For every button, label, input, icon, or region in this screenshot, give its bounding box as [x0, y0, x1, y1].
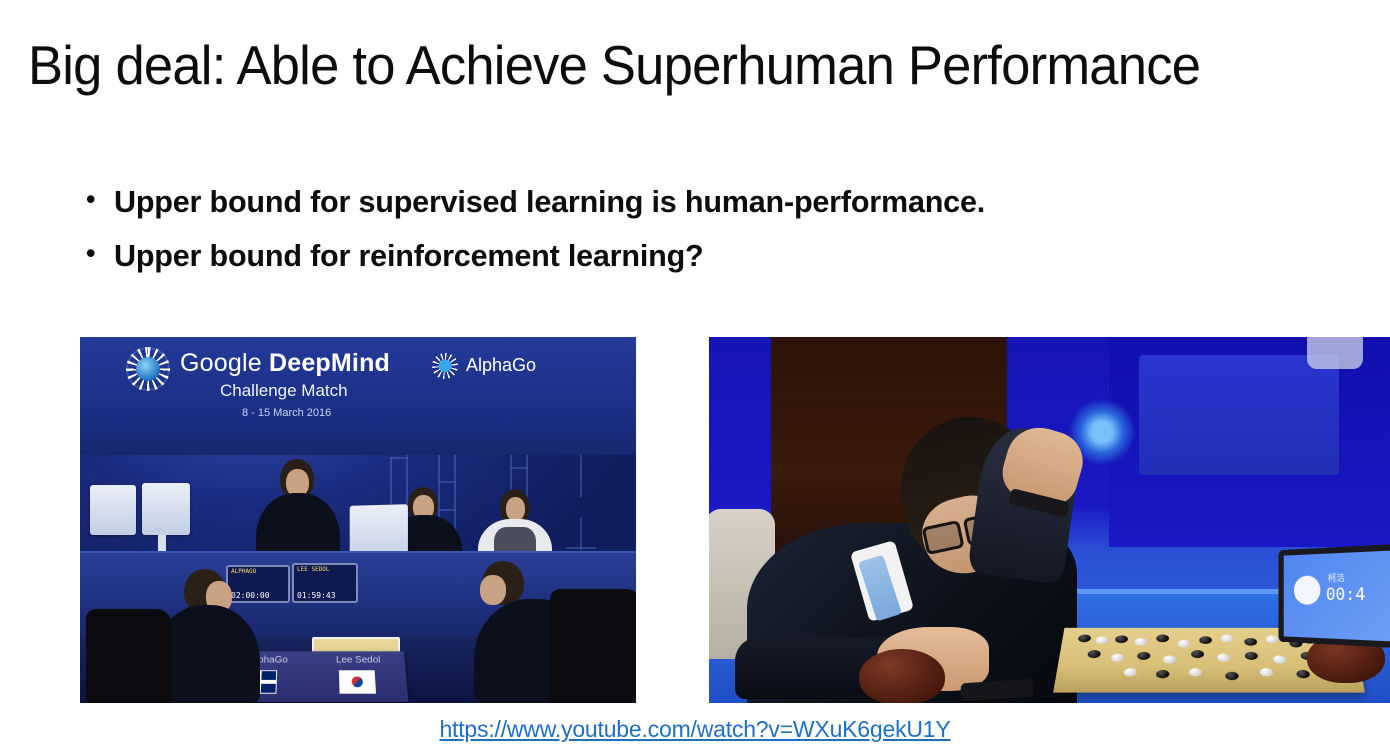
match-clock-monitor: 柯洁 00:4 — [1279, 543, 1390, 648]
wall-panel — [1139, 355, 1339, 475]
clock-label: ALPHAGO — [231, 568, 256, 575]
person-face — [480, 575, 506, 605]
deepmind-wordmark: Google DeepMind — [180, 349, 390, 378]
monitor-screen — [90, 485, 136, 535]
person-face — [506, 497, 525, 521]
bullet-list: • Upper bound for supervised learning is… — [86, 182, 1286, 289]
match-clock: LEE SEDOL 01:59:43 — [292, 563, 358, 603]
page-title: Big deal: Able to Achieve Superhuman Per… — [28, 36, 1327, 95]
clock-time: 00:4 — [1326, 585, 1365, 606]
deepmind-word: DeepMind — [269, 349, 390, 377]
bullet-marker-icon: • — [86, 236, 114, 271]
chair — [550, 589, 636, 703]
south-korea-flag-icon — [339, 670, 376, 694]
clock-label: LEE SEDOL — [297, 566, 330, 573]
list-item: • Upper bound for supervised learning is… — [86, 182, 1286, 222]
match-dates-label: 8 - 15 March 2016 — [242, 407, 331, 419]
list-item: • Upper bound for reinforcement learning… — [86, 236, 1286, 276]
placard-right-name: Lee Sedol — [336, 655, 381, 665]
clock-time: 01:59:43 — [297, 591, 336, 600]
alphago-wordmark: AlphaGo — [466, 355, 536, 376]
clock-time: 02:00:00 — [231, 591, 270, 600]
image-ke-jie-match: 柯洁 00:4 — [709, 337, 1390, 703]
google-word: Google — [180, 349, 269, 377]
player-name-label: 柯洁 — [1328, 571, 1345, 584]
go-stone-bowl — [859, 649, 945, 703]
alphago-logo-icon — [432, 353, 458, 379]
monitor-screen — [142, 483, 190, 535]
image-alphago-lee-sedol-match: Google DeepMind Challenge Match 8 - 15 M… — [80, 337, 636, 703]
challenge-match-label: Challenge Match — [220, 381, 348, 401]
deepmind-banner: Google DeepMind Challenge Match 8 - 15 M… — [80, 337, 636, 455]
ceiling-fixture — [1307, 337, 1363, 369]
source-link-row: https://www.youtube.com/watch?v=WXuK6gek… — [0, 716, 1390, 743]
bullet-marker-icon: • — [86, 182, 114, 217]
slide-canvas: Big deal: Able to Achieve Superhuman Per… — [0, 0, 1390, 750]
bullet-text: Upper bound for reinforcement learning? — [114, 236, 1268, 276]
match-clock: ALPHAGO 02:00:00 — [226, 565, 290, 603]
bullet-text: Upper bound for supervised learning is h… — [114, 182, 1268, 222]
white-stone-indicator-icon — [1294, 575, 1321, 604]
youtube-link[interactable]: https://www.youtube.com/watch?v=WXuK6gek… — [439, 716, 950, 742]
deepmind-logo-core-icon — [136, 357, 160, 381]
chair — [86, 609, 172, 703]
